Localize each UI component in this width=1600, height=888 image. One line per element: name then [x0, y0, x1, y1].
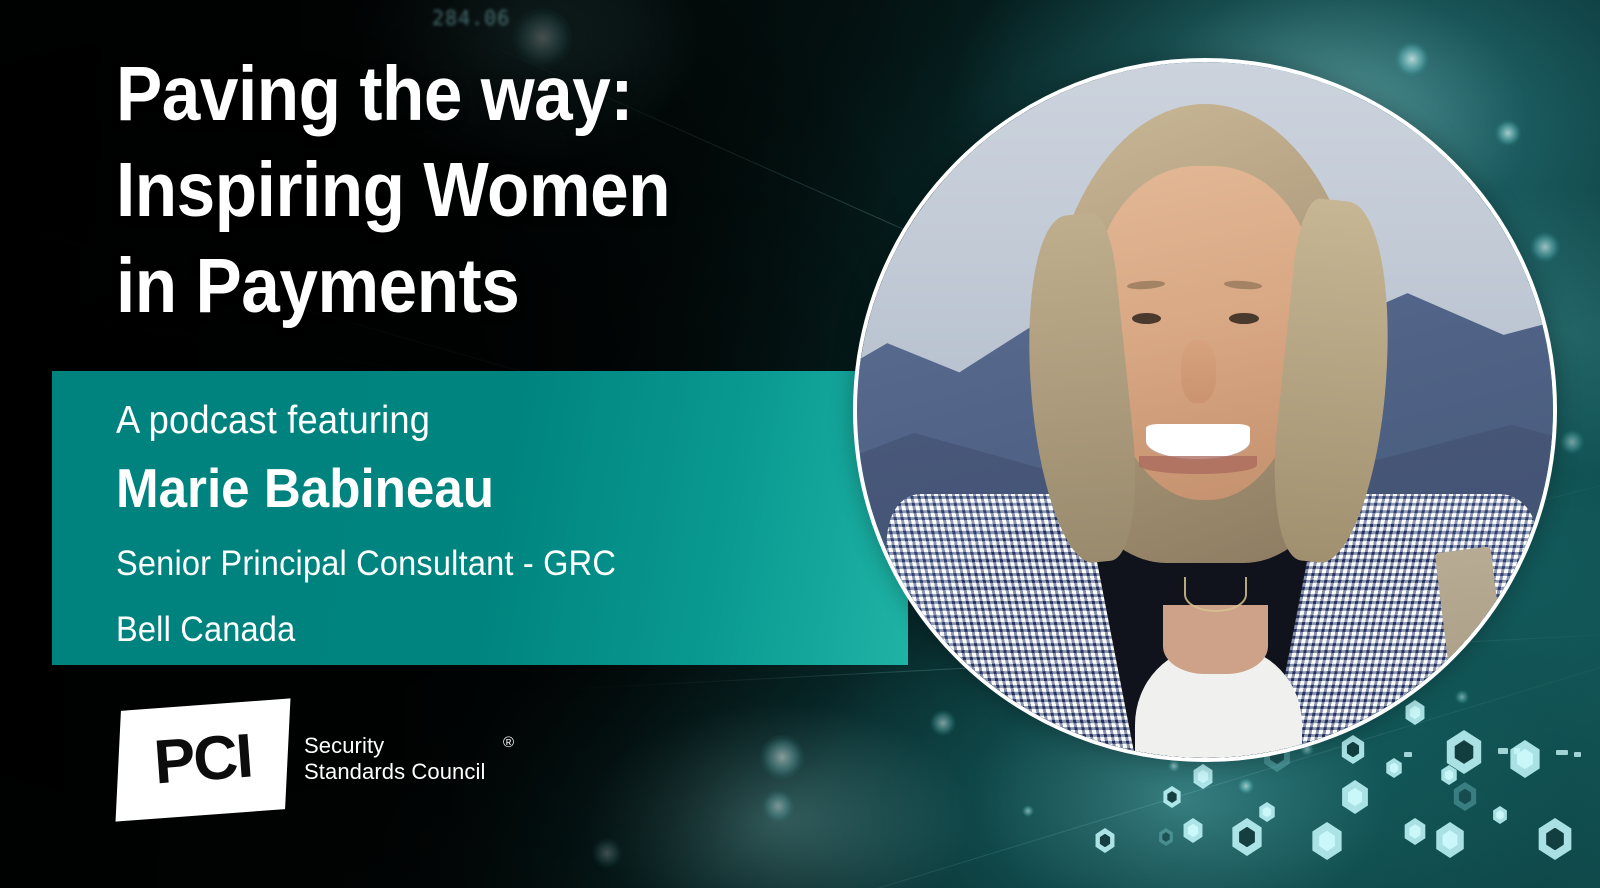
pixel-accent [1574, 752, 1581, 757]
photo-nose [1181, 340, 1216, 403]
speaker-org: Bell Canada [116, 605, 616, 655]
speaker-portrait [853, 58, 1557, 762]
background-number-artifact: 284.06 [432, 6, 510, 30]
photo-eye [1229, 313, 1258, 324]
featuring-label: A podcast featuring [116, 397, 616, 445]
portrait-photo [857, 62, 1553, 758]
photo-necklace [1184, 577, 1247, 612]
pci-logo: PCI Security Standards Council ® [118, 705, 288, 815]
pci-logo-line2: Standards Council [304, 759, 485, 785]
pci-logo-text: PCI [152, 726, 254, 795]
photo-lip [1139, 456, 1257, 474]
speaker-role: Senior Principal Consultant - GRC [116, 539, 616, 589]
registered-trademark-icon: ® [503, 735, 514, 750]
photo-eye [1132, 313, 1161, 324]
pci-logo-wordmark: Security Standards Council [304, 733, 485, 785]
pci-logo-mark: PCI [116, 698, 291, 821]
speaker-name: Marie Babineau [116, 451, 616, 525]
page-title: Paving the way: Inspiring Women in Payme… [116, 46, 818, 334]
photo-smile [1146, 424, 1250, 460]
photo-neck [1163, 605, 1267, 675]
pixel-accent [1556, 750, 1568, 755]
promo-graphic: 284.06 Paving the way: Inspiring Women i… [0, 0, 1600, 888]
speaker-info-panel: A podcast featuring Marie Babineau Senio… [52, 371, 908, 665]
pci-logo-line1: Security [304, 733, 485, 759]
